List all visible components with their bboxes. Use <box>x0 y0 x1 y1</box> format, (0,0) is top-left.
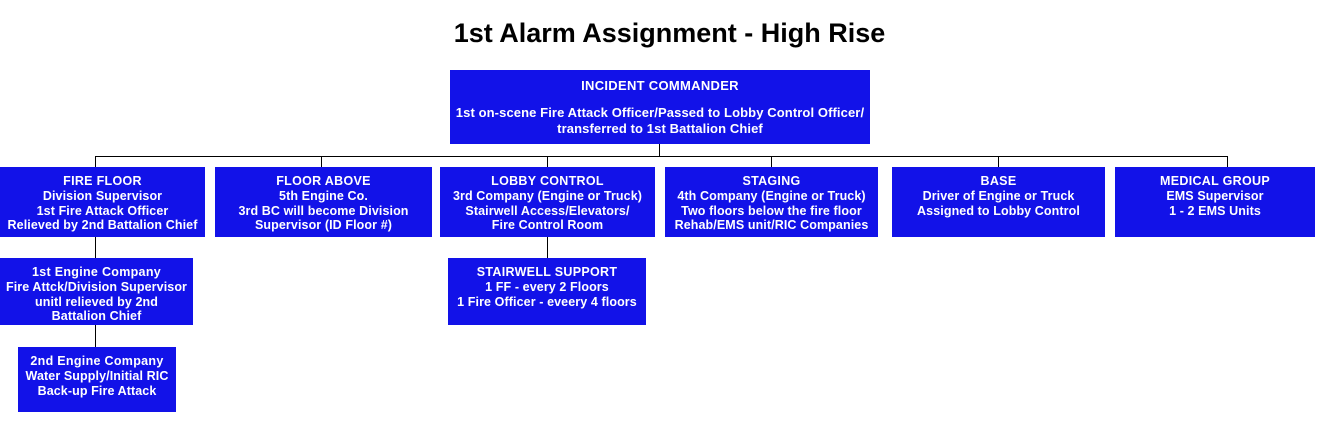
connector-drop-medical-group <box>1227 156 1228 167</box>
node-title: BASE <box>981 174 1017 189</box>
node-line: 1 - 2 EMS Units <box>1169 204 1261 219</box>
node-base[interactable]: BASE Driver of Engine or Truck Assigned … <box>892 167 1105 237</box>
node-title: STAIRWELL SUPPORT <box>477 265 618 280</box>
node-staging[interactable]: STAGING 4th Company (Engine or Truck) Tw… <box>665 167 878 237</box>
node-line: 1st on-scene Fire Attack Officer/Passed … <box>456 105 864 120</box>
node-title: FIRE FLOOR <box>63 174 142 189</box>
connector-drop-base <box>998 156 999 167</box>
connector-fire-floor-to-first-engine <box>95 237 96 258</box>
connector-drop-fire-floor <box>95 156 96 167</box>
org-chart-canvas: 1st Alarm Assignment - High Rise INCIDEN… <box>0 0 1339 430</box>
node-line: Driver of Engine or Truck <box>923 189 1075 204</box>
node-title: 1st Engine Company <box>32 265 161 280</box>
connector-ic-stem <box>659 144 660 156</box>
node-line: Battalion Chief <box>52 309 142 324</box>
node-stairwell-support[interactable]: STAIRWELL SUPPORT 1 FF - every 2 Floors … <box>448 258 646 325</box>
node-line: EMS Supervisor <box>1166 189 1263 204</box>
node-title: 2nd Engine Company <box>30 354 163 369</box>
node-title: FLOOR ABOVE <box>276 174 371 189</box>
connector-first-engine-to-second-engine <box>95 325 96 347</box>
connector-drop-floor-above <box>321 156 322 167</box>
node-line: Fire Control Room <box>492 218 603 233</box>
node-line: Two floors below the fire floor <box>681 204 862 219</box>
node-title: INCIDENT COMMANDER <box>581 78 739 93</box>
connector-drop-lobby-control <box>547 156 548 167</box>
node-line: 1 FF - every 2 Floors <box>485 280 609 295</box>
node-line: Relieved by 2nd Battalion Chief <box>8 218 198 233</box>
node-line: Fire Attck/Division Supervisor <box>6 280 187 295</box>
node-line: Stairwell Access/Elevators/ <box>465 204 629 219</box>
node-title: MEDICAL GROUP <box>1160 174 1270 189</box>
node-line: 3rd Company (Engine or Truck) <box>453 189 642 204</box>
node-incident-commander[interactable]: INCIDENT COMMANDER 1st on-scene Fire Att… <box>450 70 870 144</box>
page-title: 1st Alarm Assignment - High Rise <box>0 18 1339 49</box>
node-lobby-control[interactable]: LOBBY CONTROL 3rd Company (Engine or Tru… <box>440 167 655 237</box>
node-floor-above[interactable]: FLOOR ABOVE 5th Engine Co. 3rd BC will b… <box>215 167 432 237</box>
connector-lobby-control-to-stairwell-support <box>547 237 548 258</box>
node-line: transferred to 1st Battalion Chief <box>557 121 763 136</box>
node-line: Division Supervisor <box>43 189 162 204</box>
connector-drop-staging <box>771 156 772 167</box>
node-title: STAGING <box>742 174 800 189</box>
connector-row2-bus <box>95 156 1227 157</box>
node-line: Rehab/EMS unit/RIC Companies <box>675 218 869 233</box>
node-medical-group[interactable]: MEDICAL GROUP EMS Supervisor 1 - 2 EMS U… <box>1115 167 1315 237</box>
node-title: LOBBY CONTROL <box>491 174 604 189</box>
node-line: 4th Company (Engine or Truck) <box>677 189 865 204</box>
node-line: 1 Fire Officer - eveery 4 floors <box>457 295 637 310</box>
node-line: Supervisor (ID Floor #) <box>255 218 392 233</box>
node-line: 3rd BC will become Division <box>238 204 408 219</box>
node-line: unitl relieved by 2nd <box>35 295 158 310</box>
node-fire-floor[interactable]: FIRE FLOOR Division Supervisor 1st Fire … <box>0 167 205 237</box>
node-line: Assigned to Lobby Control <box>917 204 1080 219</box>
node-line: 5th Engine Co. <box>279 189 368 204</box>
node-line: Water Supply/Initial RIC <box>26 369 169 384</box>
node-first-engine-company[interactable]: 1st Engine Company Fire Attck/Division S… <box>0 258 193 325</box>
node-line: 1st Fire Attack Officer <box>37 204 169 219</box>
node-second-engine-company[interactable]: 2nd Engine Company Water Supply/Initial … <box>18 347 176 412</box>
node-line: Back-up Fire Attack <box>38 384 157 399</box>
